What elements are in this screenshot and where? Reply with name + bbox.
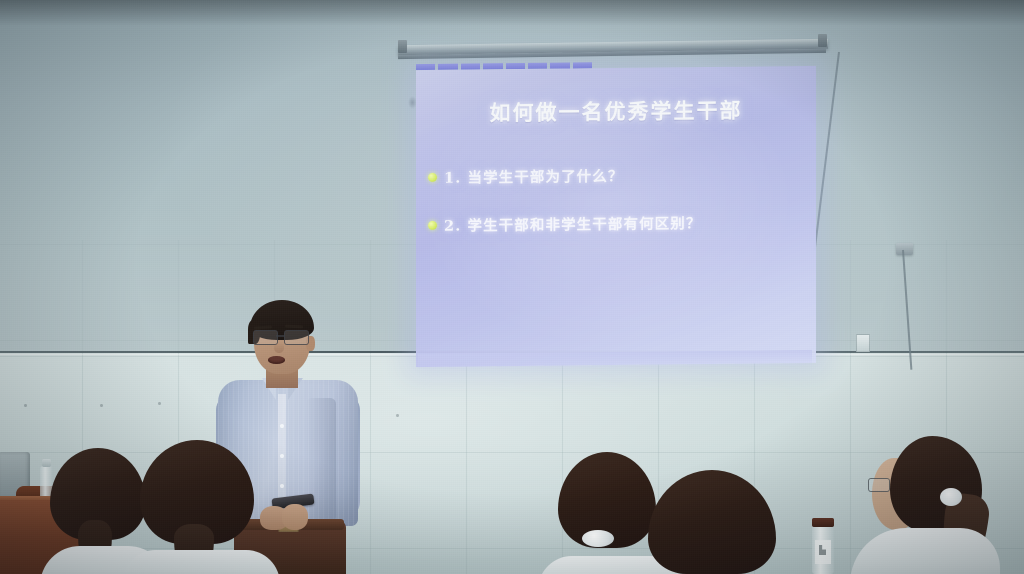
student-shirt [122, 550, 280, 574]
slide-bullet-1-text: 1. 当学生干部为了什么？ [444, 165, 623, 188]
presenter-nose [274, 342, 284, 353]
hair-scrunchie-icon [582, 530, 614, 547]
student-far-right [866, 436, 1024, 574]
slide-bullet-2: 2. 学生干部和非学生干部有何区别？ [428, 212, 701, 236]
slide-title: 如何做一名优秀学生干部 [416, 94, 816, 128]
student-right-center [648, 470, 776, 574]
slide-bullet-2-text: 2. 学生干部和非学生干部有何区别？ [444, 212, 701, 236]
student-hair [648, 470, 776, 574]
wall-outlet [856, 334, 870, 352]
ceiling-shadow [0, 0, 1024, 26]
hair-tie-icon [940, 488, 962, 506]
powerpoint-menu-strip [416, 61, 592, 70]
bullet-marker-icon [428, 173, 437, 182]
fixture-end-right [818, 34, 827, 47]
wall-mark [100, 404, 103, 407]
wall-mark [158, 402, 161, 405]
water-bottle-right [812, 518, 834, 574]
bottle-label [815, 540, 831, 564]
presenter-shirt-button [280, 484, 284, 488]
fixture-end-left [398, 40, 407, 53]
classroom-photo-scene: 如何做一名优秀学生干部 1. 当学生干部为了什么？ 2. 学生干部和非学生干部有… [0, 0, 1024, 574]
presenter-shirt-button [280, 454, 284, 458]
slide-bullet-1: 1. 当学生干部为了什么？ [428, 165, 623, 188]
wall-mark [24, 404, 27, 407]
presenter-shirt-button [280, 424, 284, 428]
glasses-icon [252, 330, 312, 343]
bottle-cap-icon [812, 518, 834, 527]
bullet-marker-icon [428, 221, 437, 230]
cable-clip [896, 243, 913, 255]
student-shirt [850, 528, 1000, 574]
presenter-hand-right [282, 504, 308, 530]
glasses-icon [868, 478, 890, 492]
wall-mark [396, 414, 399, 417]
student-left-center [136, 440, 264, 574]
presenter-mouth [268, 356, 285, 364]
projected-slide: 如何做一名优秀学生干部 1. 当学生干部为了什么？ 2. 学生干部和非学生干部有… [416, 66, 816, 367]
